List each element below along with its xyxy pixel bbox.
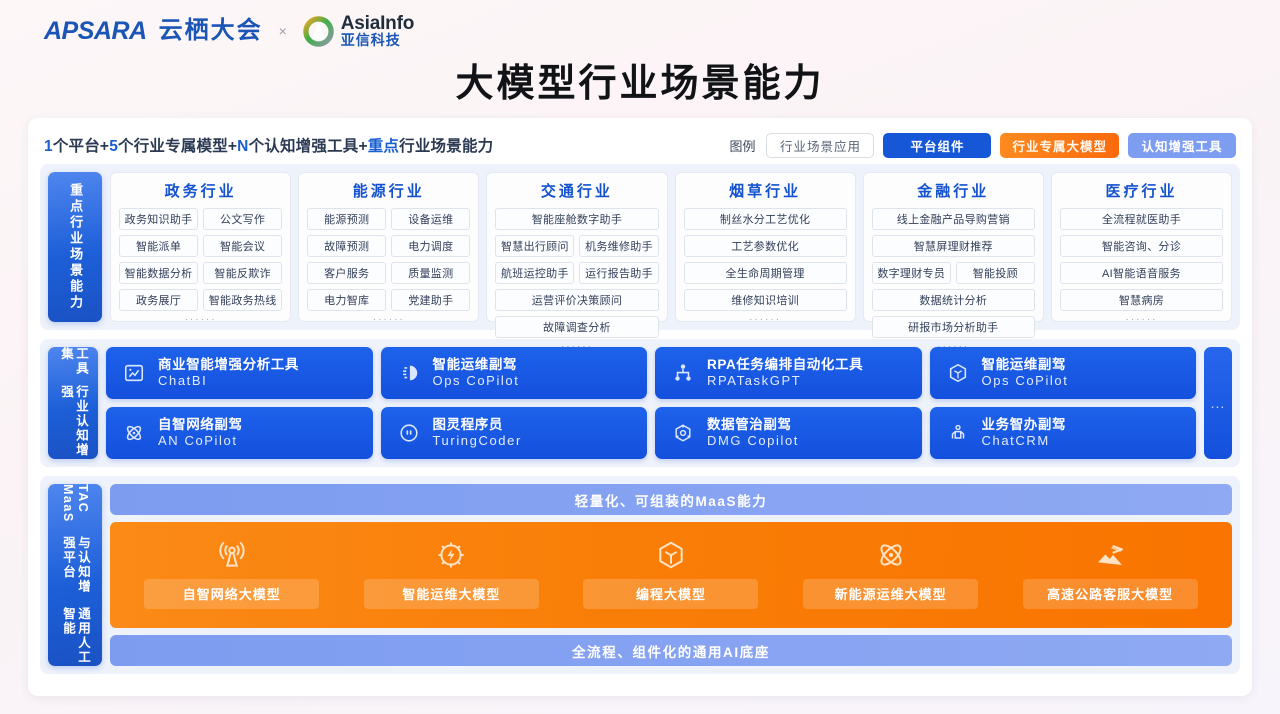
model-label: 智能运维大模型: [364, 579, 539, 609]
scenario-cell[interactable]: 智能座舱数字助手: [495, 208, 658, 230]
tagline-part-3: 个认知增强工具+: [249, 138, 368, 155]
tool-card-rpataskgpt[interactable]: RPA任务编排自动化工具 RPATaskGPT: [655, 347, 922, 399]
tool-name-en: ChatBI: [158, 373, 299, 389]
scenario-cell[interactable]: 数据统计分析: [872, 289, 1035, 311]
scenario-cell[interactable]: 设备运维: [391, 208, 470, 230]
tagline-num-1: 1: [44, 138, 53, 155]
signal-tower-icon: [215, 538, 249, 572]
scenario-cell[interactable]: 智能会议: [203, 235, 282, 257]
section-tools-side-label: 工具集 行业认知增强: [48, 347, 98, 459]
scenario-cell[interactable]: 能源预测: [307, 208, 386, 230]
model-card-highway-service[interactable]: 高速公路客服大模型: [1023, 538, 1198, 609]
chart-image-icon: [122, 361, 146, 385]
tool-name-en: Ops CoPilot: [982, 373, 1069, 389]
tool-card-text: 图灵程序员 TuringCoder: [433, 417, 522, 449]
maas-model-bar: 自智网络大模型 智能运维大模型: [110, 522, 1232, 628]
robot-face-icon: [397, 421, 421, 445]
industry-cells: 能源预测 设备运维 故障预测 电力调度 客户服务 质量监测 电力智库 党建助手: [307, 208, 470, 311]
scenario-cell[interactable]: 智能派单: [119, 235, 198, 257]
industry-column-finance: 金融行业 线上金融产品导购营销 智慧屏理财推荐 数字理财专员 智能投顾 数据统计…: [863, 172, 1044, 322]
tool-card-dmg-copilot[interactable]: 数据管治副驾 DMG Copilot: [655, 407, 922, 459]
tool-name-cn: 自智网络副驾: [158, 417, 243, 433]
legend-chip-platform-component[interactable]: 平台组件: [883, 133, 991, 158]
industry-column-tobacco: 烟草行业 制丝水分工艺优化 工艺参数优化 全生命周期管理 维修知识培训 ····…: [675, 172, 856, 322]
asiainfo-name-cn: 亚信科技: [341, 33, 414, 48]
brand-header: APSARA 云栖大会 × AsiaInfo: [44, 14, 414, 49]
industry-column-transport: 交通行业 智能座舱数字助手 智慧出行顾问 机务维修助手 航班运控助手 运行报告助…: [486, 172, 667, 322]
section-industries: 重点行业场景能力 政务行业 政务知识助手 公文写作 智能派单 智能会议 智能数据…: [40, 164, 1240, 330]
scenario-cell[interactable]: 政务展厅: [119, 289, 198, 311]
tagline: 1个平台+5个行业专属模型+N个认知增强工具+重点行业场景能力: [44, 134, 493, 156]
scenario-cell[interactable]: 智慧屏理财推荐: [872, 235, 1035, 257]
scenario-cell[interactable]: 故障预测: [307, 235, 386, 257]
tool-card-chatbi[interactable]: 商业智能增强分析工具 ChatBI: [106, 347, 373, 399]
scenario-cell[interactable]: 智能政务热线: [203, 289, 282, 311]
brain-icon: [397, 361, 421, 385]
side-label-col-1: 通用人工智能: [60, 607, 90, 666]
maas-bottom-band: 全流程、组件化的通用AI底座: [110, 635, 1232, 666]
apsara-wordmark: APSARA: [44, 19, 147, 44]
legend-label: 图例: [729, 136, 755, 155]
industry-title: 烟草行业: [684, 180, 847, 201]
scenario-cell[interactable]: 电力智库: [307, 289, 386, 311]
tool-name-cn: 数据管治副驾: [707, 417, 799, 433]
cube-shield-icon: [946, 361, 970, 385]
asiainfo-logo: AsiaInfo 亚信科技: [303, 14, 414, 49]
scenario-cell[interactable]: 工艺参数优化: [684, 235, 847, 257]
model-card-autonomous-network[interactable]: 自智网络大模型: [144, 538, 319, 609]
scenario-cell[interactable]: 维修知识培训: [684, 289, 847, 311]
scenario-cell[interactable]: 质量监测: [391, 262, 470, 284]
tool-card-text: RPA任务编排自动化工具 RPATaskGPT: [707, 357, 863, 389]
more-dots: ······: [684, 311, 847, 325]
atom-icon: [122, 421, 146, 445]
legend-row: 1个平台+5个行业专属模型+N个认知增强工具+重点行业场景能力 图例 行业场景应…: [40, 128, 1240, 162]
industry-title: 金融行业: [872, 180, 1035, 201]
scenario-cell[interactable]: 全生命周期管理: [684, 262, 847, 284]
tool-card-text: 智能运维副驾 Ops CoPilot: [982, 357, 1069, 389]
asiainfo-mark-icon: [303, 16, 334, 47]
section-tools-side-label-text: 工具集 行业认知增强: [58, 347, 88, 459]
scenario-cell[interactable]: 电力调度: [391, 235, 470, 257]
cube-shield-icon: [654, 538, 688, 572]
tool-card-ops-copilot-1[interactable]: 智能运维副驾 Ops CoPilot: [381, 347, 648, 399]
scenario-cell[interactable]: 数字理财专员: [872, 262, 951, 284]
scenario-cell[interactable]: 智能咨询、分诊: [1060, 235, 1223, 257]
road-image-icon: [1093, 538, 1127, 572]
side-label-col-2: 与认知增强平台: [60, 536, 90, 605]
tool-card-chatcrm[interactable]: 业务智办副驾 ChatCRM: [930, 407, 1197, 459]
scenario-cell[interactable]: 智能反欺诈: [203, 262, 282, 284]
model-card-intelligent-ops[interactable]: 智能运维大模型: [364, 538, 539, 609]
tool-card-turingcoder[interactable]: 图灵程序员 TuringCoder: [381, 407, 648, 459]
tool-name-cn: RPA任务编排自动化工具: [707, 357, 863, 373]
tool-name-cn: 智能运维副驾: [433, 357, 520, 373]
industry-column-energy: 能源行业 能源预测 设备运维 故障预测 电力调度 客户服务 质量监测 电力智库 …: [298, 172, 479, 322]
side-label-col-2: 工具集: [58, 347, 88, 384]
scenario-cell[interactable]: 智能投顾: [956, 262, 1035, 284]
tagline-part-2: 个行业专属模型+: [118, 138, 237, 155]
maas-stack: 轻量化、可组装的MaaS能力 自智网络大模型: [110, 484, 1232, 666]
model-label: 自智网络大模型: [144, 579, 319, 609]
tool-card-an-copilot[interactable]: 自智网络副驾 AN CoPilot: [106, 407, 373, 459]
tool-name-en: ChatCRM: [982, 433, 1067, 449]
section-maas-side-label-text: TAC MaaS 与认知增强平台 通用人工智能: [60, 484, 90, 666]
industry-title: 政务行业: [119, 180, 282, 201]
slide-root: APSARA 云栖大会 × AsiaInfo: [0, 0, 1280, 714]
tools-more-button[interactable]: ...: [1204, 347, 1232, 459]
maas-top-band: 轻量化、可组装的MaaS能力: [110, 484, 1232, 515]
model-label: 新能源运维大模型: [803, 579, 978, 609]
scenario-cell[interactable]: 智慧出行顾问: [495, 235, 574, 257]
scenario-cell[interactable]: 客户服务: [307, 262, 386, 284]
asiainfo-name-block: AsiaInfo 亚信科技: [341, 14, 414, 49]
model-label: 编程大模型: [583, 579, 758, 609]
tool-name-cn: 智能运维副驾: [982, 357, 1069, 373]
tagline-num-2: 5: [109, 138, 118, 155]
tool-card-text: 业务智办副驾 ChatCRM: [982, 417, 1067, 449]
scenario-cell[interactable]: 运营评价决策顾问: [495, 289, 658, 311]
section-industries-side-label-text: 重点行业场景能力: [67, 183, 83, 311]
scenario-cell[interactable]: 公文写作: [203, 208, 282, 230]
industry-title: 医疗行业: [1060, 180, 1223, 201]
model-label: 高速公路客服大模型: [1023, 579, 1198, 609]
tool-name-en: DMG Copilot: [707, 433, 799, 449]
tagline-emph: 重点: [368, 138, 399, 155]
section-tools: 工具集 行业认知增强 商业智能增强分析工具 ChatBI: [40, 339, 1240, 467]
scenario-cell[interactable]: 党建助手: [391, 289, 470, 311]
section-maas-side-label: TAC MaaS 与认知增强平台 通用人工智能: [48, 484, 102, 666]
tool-card-ops-copilot-2[interactable]: 智能运维副驾 Ops CoPilot: [930, 347, 1197, 399]
scenario-cell[interactable]: 航班运控助手: [495, 262, 574, 284]
scenario-cell[interactable]: 研报市场分析助手: [872, 316, 1035, 338]
side-label-col-1: 行业认知增强: [58, 385, 88, 459]
industry-cells: 制丝水分工艺优化 工艺参数优化 全生命周期管理 维修知识培训: [684, 208, 847, 311]
apsara-chinese-name: 云栖大会: [159, 19, 263, 43]
industry-column-government: 政务行业 政务知识助手 公文写作 智能派单 智能会议 智能数据分析 智能反欺诈 …: [110, 172, 291, 322]
section-maas: TAC MaaS 与认知增强平台 通用人工智能 轻量化、可组装的MaaS能力: [40, 476, 1240, 674]
side-label-col-3: TAC MaaS: [60, 484, 90, 534]
industry-cells: 线上金融产品导购营销 智慧屏理财推荐 数字理财专员 智能投顾 数据统计分析 研报…: [872, 208, 1035, 338]
more-dots: ······: [119, 311, 282, 325]
tool-card-text: 智能运维副驾 Ops CoPilot: [433, 357, 520, 389]
cross-separator-icon: ×: [279, 23, 287, 39]
tool-name-cn: 业务智办副驾: [982, 417, 1067, 433]
scenario-cell[interactable]: 智能数据分析: [119, 262, 198, 284]
bolt-circle-icon: [434, 538, 468, 572]
tagline-part-4: 行业场景能力: [399, 138, 493, 155]
atom-icon: [874, 538, 908, 572]
tool-card-text: 数据管治副驾 DMG Copilot: [707, 417, 799, 449]
legend: 图例 行业场景应用 平台组件 行业专属大模型 认知增强工具: [729, 133, 1236, 158]
legend-chip-scenario-app[interactable]: 行业场景应用: [766, 133, 874, 158]
tagline-num-3: N: [237, 138, 248, 155]
asiainfo-name-en: AsiaInfo: [341, 14, 414, 33]
industry-title: 交通行业: [495, 180, 658, 201]
workflow-node-icon: [671, 361, 695, 385]
tool-card-text: 商业智能增强分析工具 ChatBI: [158, 357, 299, 389]
tool-name-en: TuringCoder: [433, 433, 522, 449]
tool-name-en: AN CoPilot: [158, 433, 243, 449]
section-industries-side-label: 重点行业场景能力: [48, 172, 102, 322]
tool-name-en: RPATaskGPT: [707, 373, 863, 389]
tool-name-cn: 图灵程序员: [433, 417, 522, 433]
industry-columns: 政务行业 政务知识助手 公文写作 智能派单 智能会议 智能数据分析 智能反欺诈 …: [110, 172, 1232, 322]
more-dots: ······: [307, 311, 470, 325]
scenario-cell[interactable]: 全流程就医助手: [1060, 208, 1223, 230]
tool-name-cn: 商业智能增强分析工具: [158, 357, 299, 373]
tool-name-en: Ops CoPilot: [433, 373, 520, 389]
scenario-cell[interactable]: 政务知识助手: [119, 208, 198, 230]
scenario-cell[interactable]: 机务维修助手: [579, 235, 658, 257]
data-cube-icon: [671, 421, 695, 445]
scenario-cell[interactable]: 智慧病房: [1060, 289, 1223, 311]
tool-card-text: 自智网络副驾 AN CoPilot: [158, 417, 243, 449]
industry-cells: 政务知识助手 公文写作 智能派单 智能会议 智能数据分析 智能反欺诈 政务展厅 …: [119, 208, 282, 311]
industry-column-healthcare: 医疗行业 全流程就医助手 智能咨询、分诊 AI智能语音服务 智慧病房 ·····…: [1051, 172, 1232, 322]
model-card-new-energy-ops[interactable]: 新能源运维大模型: [803, 538, 978, 609]
diagram-board: 1个平台+5个行业专属模型+N个认知增强工具+重点行业场景能力 图例 行业场景应…: [28, 118, 1252, 696]
industry-title: 能源行业: [307, 180, 470, 201]
scenario-cell[interactable]: 线上金融产品导购营销: [872, 208, 1035, 230]
legend-chip-industry-model[interactable]: 行业专属大模型: [1000, 133, 1119, 158]
scenario-cell[interactable]: AI智能语音服务: [1060, 262, 1223, 284]
industry-cells: 智能座舱数字助手 智慧出行顾问 机务维修助手 航班运控助手 运行报告助手 运营评…: [495, 208, 658, 338]
model-card-coding[interactable]: 编程大模型: [583, 538, 758, 609]
more-dots: ······: [1060, 311, 1223, 325]
people-icon: [946, 421, 970, 445]
tool-grid: 商业智能增强分析工具 ChatBI 智能运维副驾 Ops CoPilot: [106, 347, 1196, 459]
scenario-cell[interactable]: 故障调查分析: [495, 316, 658, 338]
tagline-part-1: 个平台+: [53, 138, 109, 155]
legend-chip-cognitive-tool[interactable]: 认知增强工具: [1128, 133, 1236, 158]
industry-cells: 全流程就医助手 智能咨询、分诊 AI智能语音服务 智慧病房: [1060, 208, 1223, 311]
scenario-cell[interactable]: 制丝水分工艺优化: [684, 208, 847, 230]
page-title: 大模型行业场景能力: [0, 52, 1280, 107]
scenario-cell[interactable]: 运行报告助手: [579, 262, 658, 284]
